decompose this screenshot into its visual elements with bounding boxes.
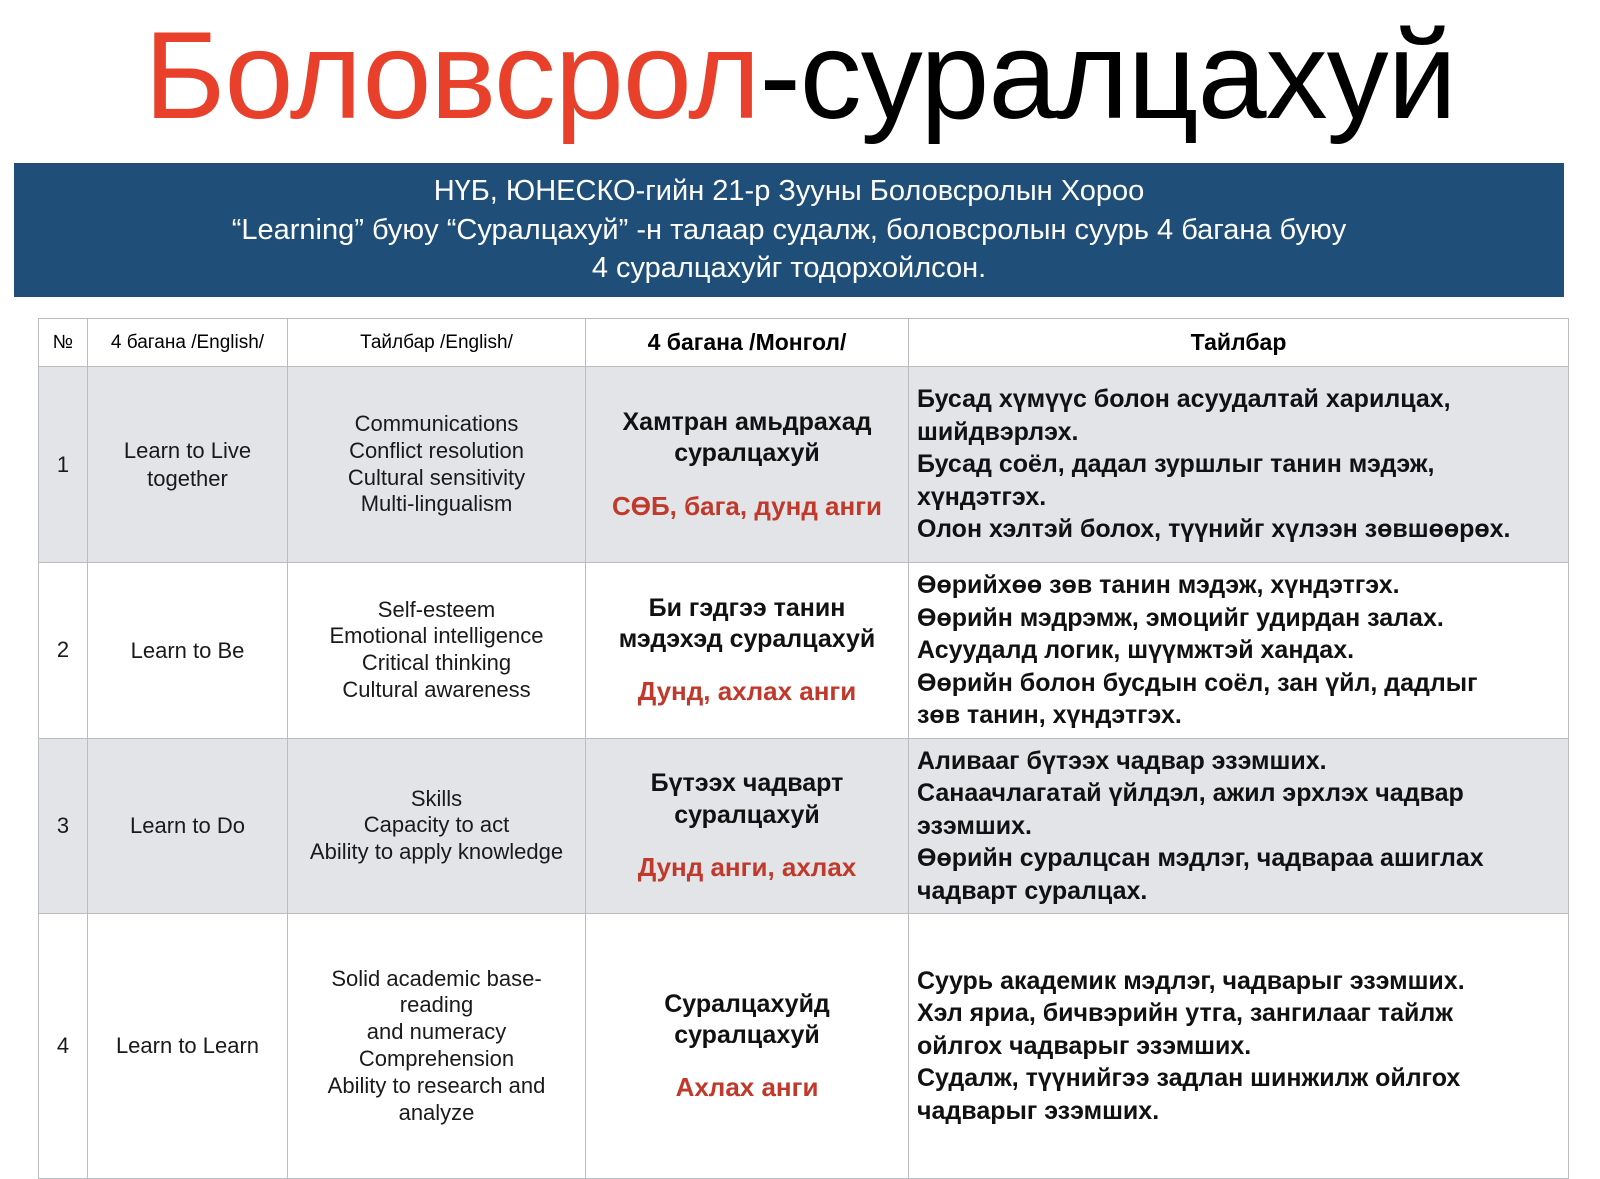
header-mongol-desc: Тайлбар [909,319,1569,367]
english-desc-line: Communications [296,411,577,438]
english-desc-line: Emotional intelligence [296,623,577,650]
banner-line-3: 4 суралцахуйг тодорхойлсон. [592,249,986,288]
mongol-desc-line: Хэл яриа, бичвэрийн утга, зангилааг тайл… [917,997,1560,1030]
page-title-text: Боловсрол-суралцахуй [144,14,1456,138]
mongol-pillar-text: Суралцахуйд суралцахуй [664,990,830,1049]
mongol-desc-line: Өөрийхөө зөв танин мэдэж, хүндэтгэх. [917,569,1560,602]
mongol-desc-line: шийдвэрлэх. [917,416,1560,449]
header-english-desc: Тайлбар /English/ [288,319,586,367]
row-english-desc: Solid academic base- reading and numerac… [288,914,586,1179]
mongol-pillar-text: Би гэдгээ танин мэдэхэд суралцахуй [619,594,875,653]
mongol-desc-line: Аливааг бүтээх чадвар эзэмших. [917,745,1560,778]
english-desc-line: Skills [296,786,577,813]
mongol-pillar-text: Бүтээх чадварт суралцахуй [651,769,844,828]
row-mongol-desc: Өөрийхөө зөв танин мэдэж, хүндэтгэх. Өөр… [909,563,1569,739]
table-row: 3 Learn to Do Skills Capacity to act Abi… [39,738,1569,914]
header-english-pillar: 4 багана /English/ [88,319,288,367]
page-title-red-part: Боловсрол [144,7,759,145]
mongol-desc-line: Бусад соёл, дадал зуршлыг танин мэдэж, [917,448,1560,481]
row-number: 4 [39,914,88,1179]
banner-line-1: НҮБ, ЮНЕСКО-гийн 21-р Зууны Боловсролын … [434,172,1145,211]
english-desc-line: Cultural awareness [296,677,577,704]
english-desc-line: Self-esteem [296,597,577,624]
row-english-desc: Communications Conflict resolution Cultu… [288,367,586,563]
row-mongol-desc: Суурь академик мэдлэг, чадварыг эзэмших.… [909,914,1569,1179]
grade-level-badge: Дунд, ахлах анги [594,675,900,708]
page-title: Боловсрол-суралцахуй [0,0,1600,152]
english-desc-line: Ability to apply knowledge [296,839,577,866]
row-english-pillar: Learn to Be [88,563,288,739]
row-mongol-pillar: Би гэдгээ танин мэдэхэд суралцахуй Дунд,… [586,563,909,739]
table-row: 1 Learn to Live together Communications … [39,367,1569,563]
row-mongol-pillar: Суралцахуйд суралцахуй Ахлах анги [586,914,909,1179]
mongol-desc-line: эзэмших. [917,810,1560,843]
row-mongol-pillar: Бүтээх чадварт суралцахуй Дунд анги, ахл… [586,738,909,914]
english-desc-line: Ability to research and analyze [296,1073,577,1127]
header-mongol-pillar: 4 багана /Монгол/ [586,319,909,367]
row-english-pillar: Learn to Live together [88,367,288,563]
english-desc-line: Critical thinking [296,650,577,677]
mongol-desc-line: Санаачлагатай үйлдэл, ажил эрхлэх чадвар [917,777,1560,810]
mongol-desc-line: Өөрийн болон бусдын соёл, зан үйл, дадлы… [917,667,1560,700]
row-english-pillar: Learn to Do [88,738,288,914]
mongol-desc-line: Асуудалд логик, шүүмжтэй хандах. [917,634,1560,667]
row-english-desc: Skills Capacity to act Ability to apply … [288,738,586,914]
english-desc-line: Comprehension [296,1046,577,1073]
mongol-desc-line: чадварт суралцах. [917,875,1560,908]
mongol-desc-line: зөв танин, хүндэтгэх. [917,699,1560,732]
row-mongol-pillar: Хамтран амьдрахад суралцахуй СӨБ, бага, … [586,367,909,563]
banner-line-2: “Learning” буюу “Суралцахуй” -н талаар с… [232,211,1347,250]
table-row: 4 Learn to Learn Solid academic base- re… [39,914,1569,1179]
english-desc-line: Solid academic base- reading [296,966,577,1020]
info-banner: НҮБ, ЮНЕСКО-гийн 21-р Зууны Боловсролын … [14,163,1564,297]
four-pillars-table: № 4 багана /English/ Тайлбар /English/ 4… [38,318,1569,1179]
mongol-desc-line: Суурь академик мэдлэг, чадварыг эзэмших. [917,965,1560,998]
row-mongol-desc: Бусад хүмүүс болон асуудалтай харилцах, … [909,367,1569,563]
mongol-desc-line: чадварыг эзэмших. [917,1095,1560,1128]
mongol-desc-line: Олон хэлтэй болох, түүнийг хүлээн зөвшөө… [917,513,1560,546]
grade-level-badge: Ахлах анги [594,1071,900,1104]
mongol-desc-line: ойлгох чадварыг эзэмших. [917,1030,1560,1063]
table-header-row: № 4 багана /English/ Тайлбар /English/ 4… [39,319,1569,367]
header-num: № [39,319,88,367]
english-desc-line: Multi-lingualism [296,491,577,518]
mongol-pillar-text: Хамтран амьдрахад суралцахуй [622,408,871,467]
english-desc-line: Conflict resolution [296,438,577,465]
row-english-pillar: Learn to Learn [88,914,288,1179]
english-desc-line: and numeracy [296,1019,577,1046]
mongol-desc-line: Бусад хүмүүс болон асуудалтай харилцах, [917,383,1560,416]
page-title-black-part: -суралцахуй [759,7,1455,145]
english-desc-line: Cultural sensitivity [296,465,577,492]
mongol-desc-line: хүндэтгэх. [917,481,1560,514]
row-number: 3 [39,738,88,914]
mongol-desc-line: Өөрийн мэдрэмж, эмоцийг удирдан залах. [917,602,1560,635]
table-body: № 4 багана /English/ Тайлбар /English/ 4… [39,319,1569,1179]
mongol-desc-line: Өөрийн суралцсан мэдлэг, чадвараа ашигла… [917,842,1560,875]
four-pillars-table-wrap: № 4 багана /English/ Тайлбар /English/ 4… [38,318,1568,1179]
mongol-desc-line: Судалж, түүнийгээ задлан шинжилж ойлгох [917,1062,1560,1095]
row-number: 1 [39,367,88,563]
grade-level-badge: Дунд анги, ахлах [594,851,900,884]
grade-level-badge: СӨБ, бага, дунд анги [594,490,900,523]
row-english-desc: Self-esteem Emotional intelligence Criti… [288,563,586,739]
row-number: 2 [39,563,88,739]
row-mongol-desc: Аливааг бүтээх чадвар эзэмших. Санаачлаг… [909,738,1569,914]
english-desc-line: Capacity to act [296,812,577,839]
table-row: 2 Learn to Be Self-esteem Emotional inte… [39,563,1569,739]
